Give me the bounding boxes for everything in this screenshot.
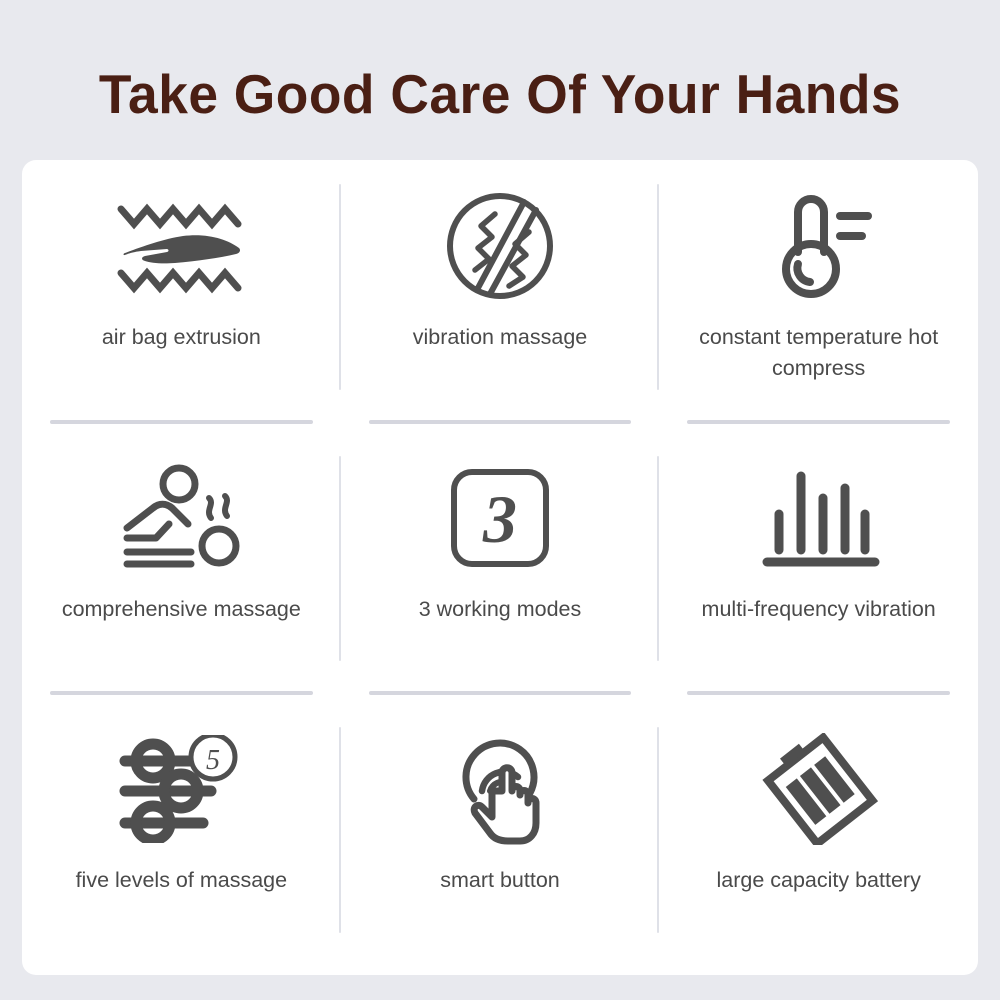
frequency-bars-icon [757, 458, 881, 578]
feature-caption: air bag extrusion [102, 322, 261, 353]
feature-cell-comprehensive-massage: comprehensive massage [22, 432, 341, 704]
hand-airbag-compression-icon [111, 186, 251, 306]
levels-count-badge: 5 [206, 745, 220, 776]
person-massage-table-icon [111, 458, 251, 578]
feature-caption: 3 working modes [419, 594, 582, 625]
feature-cell-five-levels: 5 five levels of massage [22, 703, 341, 975]
feature-cell-battery: large capacity battery [659, 703, 978, 975]
feature-caption: smart button [440, 865, 560, 896]
feature-caption: constant temperature hot compress [684, 322, 954, 383]
battery-icon [760, 729, 878, 849]
feature-cell-smart-button: smart button [341, 703, 660, 975]
feature-cell-hot-compress: constant temperature hot compress [659, 160, 978, 432]
sliders-levels-icon: 5 [115, 729, 247, 849]
feature-caption: multi-frequency vibration [702, 594, 936, 625]
page-title: Take Good Care Of Your Hands [15, 62, 985, 126]
feature-cell-air-bag-extrusion: air bag extrusion [22, 160, 341, 432]
tap-hand-icon [444, 729, 556, 849]
infographic-page: Take Good Care Of Your Hands air bag ext… [0, 0, 1000, 1000]
features-grid: air bag extrusion vibration massage [22, 160, 978, 975]
feature-cell-multi-frequency: multi-frequency vibration [659, 432, 978, 704]
feature-cell-working-modes: 3 3 working modes [341, 432, 660, 704]
vibration-circle-icon [444, 186, 556, 306]
feature-caption: vibration massage [413, 322, 587, 353]
modes-count-badge: 3 [482, 481, 517, 557]
three-modes-square-icon: 3 [448, 458, 552, 578]
thermometer-icon [760, 186, 878, 306]
feature-caption: five levels of massage [76, 865, 288, 896]
features-card: air bag extrusion vibration massage [22, 160, 978, 975]
feature-cell-vibration-massage: vibration massage [341, 160, 660, 432]
feature-caption: large capacity battery [716, 865, 920, 896]
feature-caption: comprehensive massage [62, 594, 301, 625]
